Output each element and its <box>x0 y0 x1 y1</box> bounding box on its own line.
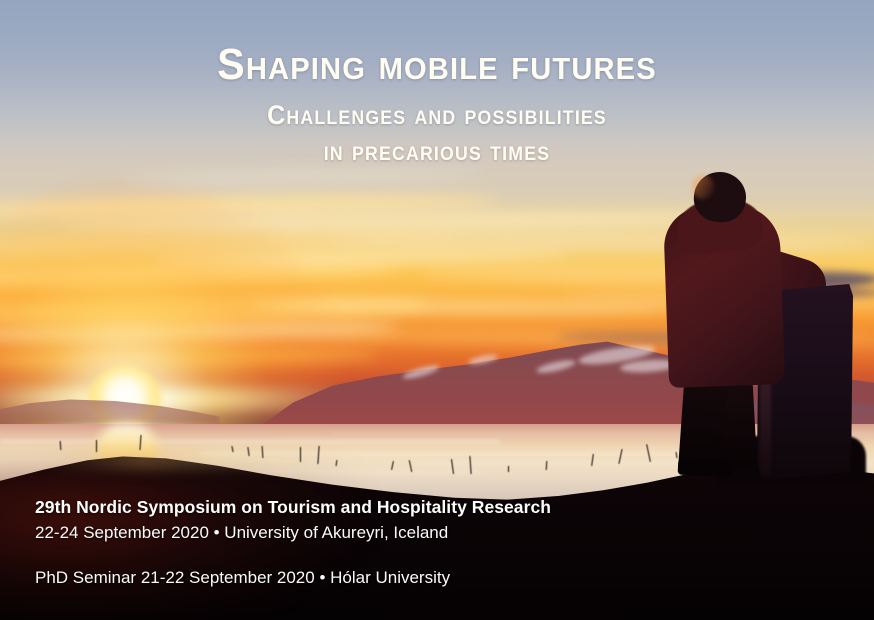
person-boot <box>678 457 733 478</box>
bottom-warm-glow <box>0 470 360 620</box>
grass-tuft <box>96 440 97 452</box>
conference-poster: Shaping mobile futures Challenges and po… <box>0 0 874 620</box>
head-rim-light <box>692 175 714 199</box>
grass-tuft <box>508 466 509 472</box>
grass-tuft <box>300 447 301 462</box>
